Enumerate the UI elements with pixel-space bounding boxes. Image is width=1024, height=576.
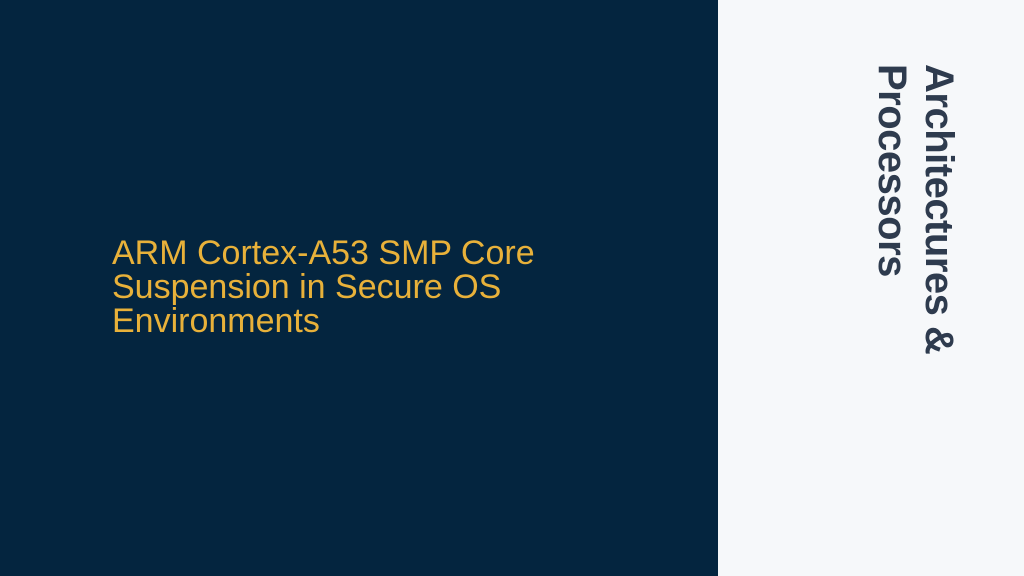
left-content-panel: ARM Cortex-A53 SMP Core Suspension in Se… — [0, 0, 718, 576]
vertical-section-label: Architectures & Processors — [866, 64, 962, 484]
side-label-container: Architectures & Processors — [718, 0, 1024, 576]
title-block: ARM Cortex-A53 SMP Core Suspension in Se… — [112, 236, 632, 338]
slide-title: ARM Cortex-A53 SMP Core Suspension in Se… — [112, 236, 632, 338]
right-accent-panel: Architectures & Processors — [718, 0, 1024, 576]
slide-canvas: ARM Cortex-A53 SMP Core Suspension in Se… — [0, 0, 1024, 576]
